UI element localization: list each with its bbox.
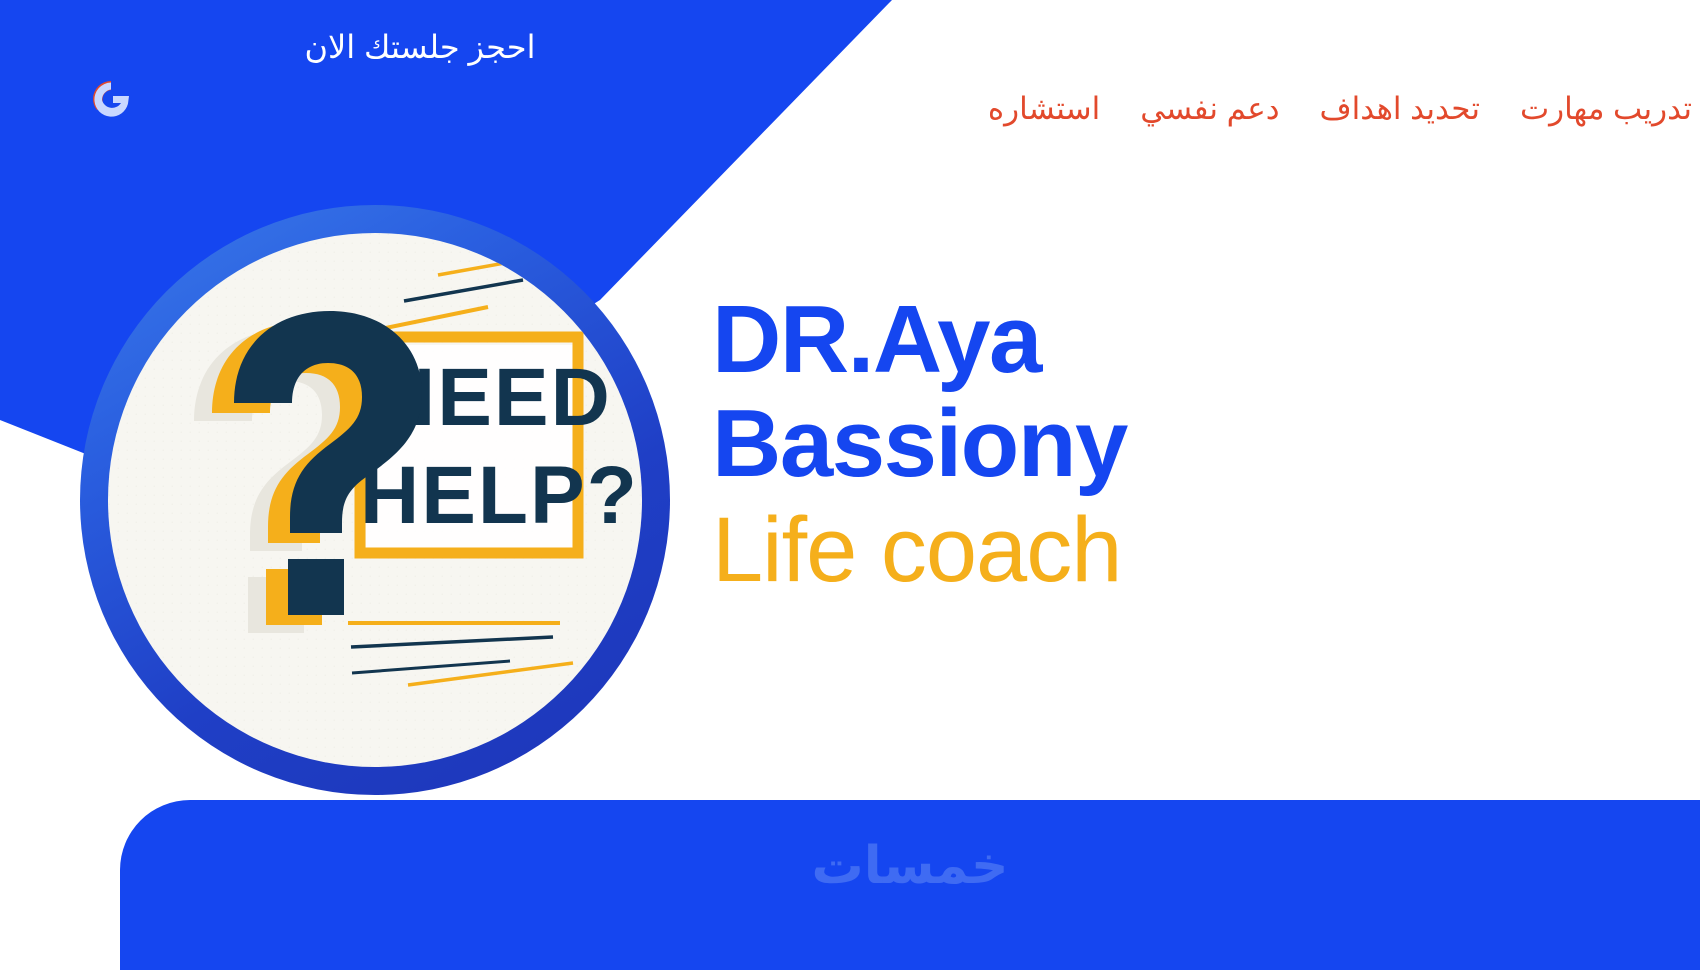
brand-g-logo[interactable] xyxy=(88,76,134,122)
logo-letter-g-icon xyxy=(94,83,129,117)
main-navigation: تدريب مهارت تحديد اهداف دعم نفسي استشاره xyxy=(988,92,1692,126)
booking-cta-text[interactable]: احجز جلستك الان xyxy=(250,28,590,66)
landing-page-canvas: احجز جلستك الان تدريب مهارت تحديد اهداف … xyxy=(0,0,1700,970)
khamsat-watermark: خمسات xyxy=(120,836,1700,896)
sign-text-help: HELP? xyxy=(360,450,639,541)
hero-image-circle: NEED HELP? xyxy=(80,205,670,795)
coach-name: DR.Aya Bassiony xyxy=(712,288,1632,495)
nav-item-skill-training[interactable]: تدريب مهارت xyxy=(1520,92,1692,126)
hero-headline: DR.Aya Bassiony Life coach xyxy=(712,288,1632,601)
footer-bar: خمسات xyxy=(120,800,1700,970)
nav-item-consultation[interactable]: استشاره xyxy=(988,92,1100,126)
need-help-illustration: NEED HELP? xyxy=(108,233,642,767)
nav-item-goal-setting[interactable]: تحديد اهداف xyxy=(1320,92,1480,126)
coach-role: Life coach xyxy=(712,501,1632,600)
hero-image-inner: NEED HELP? xyxy=(108,233,642,767)
nav-item-psychological-support[interactable]: دعم نفسي xyxy=(1140,92,1279,126)
